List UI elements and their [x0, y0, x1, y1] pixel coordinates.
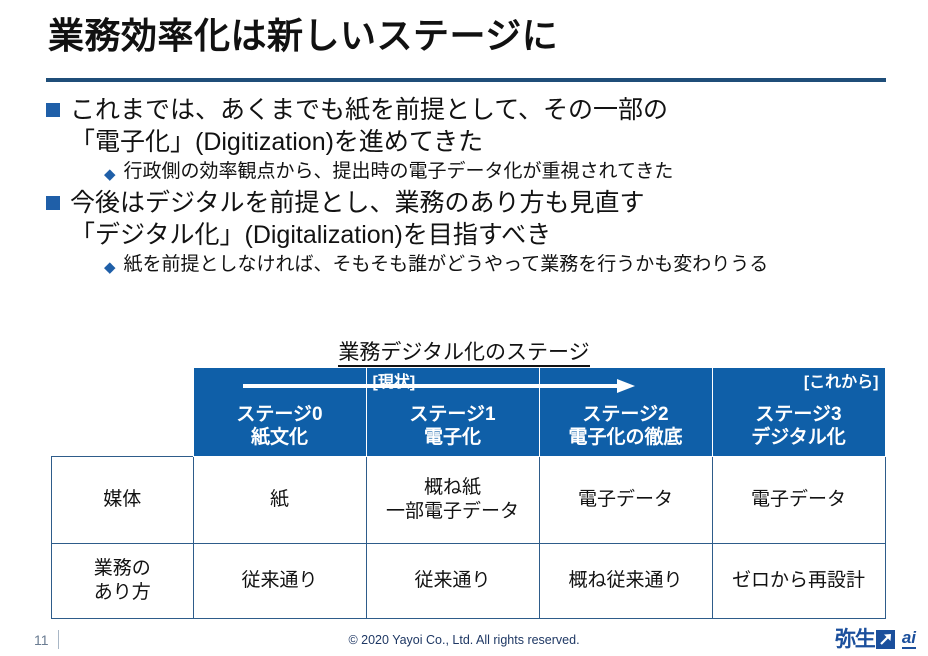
- sub-bullet-2-1-text: 紙を前提としなければ、そもそも誰がどうやって業務を行うかも変わりうる: [124, 253, 769, 276]
- bullet-item-1: これまでは、あくまでも紙を前提として、その一部の 「電子化」(Digitizat…: [46, 94, 906, 158]
- slide-canvas: 業務効率化は新しいステージに これまでは、あくまでも紙を前提として、その一部の …: [0, 0, 928, 656]
- bullet-item-1-text: これまでは、あくまでも紙を前提として、その一部の 「電子化」(Digitizat…: [70, 94, 668, 158]
- stage-table: ステージ0 紙文化 [現状] ステージ1 電子化 ステージ2 電子化の徹底: [51, 367, 886, 619]
- table-header-stage3: [これから] ステージ3 デジタル化: [712, 368, 885, 457]
- cell-media-stage2: 電子データ: [539, 457, 712, 544]
- bullet-item-2: 今後はデジタルを前提とし、業務のあり方も見直す 「デジタル化」(Digitali…: [46, 187, 906, 251]
- header-stage3-line2: デジタル化: [713, 426, 885, 450]
- table-row: 媒体 紙 概ね紙一部電子データ 電子データ 電子データ: [52, 457, 886, 544]
- row-label-media: 媒体: [52, 457, 194, 544]
- bullet-list: これまでは、あくまでも紙を前提として、その一部の 「電子化」(Digitizat…: [46, 94, 906, 280]
- copyright-text: © 2020 Yayoi Co., Ltd. All rights reserv…: [0, 633, 928, 647]
- diamond-bullet-icon: ◆: [104, 260, 116, 275]
- bullet-item-2-text: 今後はデジタルを前提とし、業務のあり方も見直す 「デジタル化」(Digitali…: [70, 187, 645, 251]
- header-stage1-line1: ステージ1: [367, 403, 539, 427]
- sub-bullet-1-1: ◆ 行政側の効率観点から、提出時の電子データ化が重視されてきた: [104, 160, 906, 183]
- table-header-row: ステージ0 紙文化 [現状] ステージ1 電子化 ステージ2 電子化の徹底: [52, 368, 886, 457]
- title-divider: [46, 78, 886, 82]
- table-header-stage1: [現状] ステージ1 電子化: [366, 368, 539, 457]
- cell-media-stage1: 概ね紙一部電子データ: [366, 457, 539, 544]
- header-stage2-line1: ステージ2: [540, 403, 712, 427]
- header-stage3-line1: ステージ3: [713, 403, 885, 427]
- table-caption: 業務デジタル化のステージ: [0, 336, 928, 366]
- cell-workstyle-stage3: ゼロから再設計: [712, 544, 885, 619]
- cell-media-stage0: 紙: [193, 457, 366, 544]
- header-stage0-line1: ステージ0: [194, 403, 366, 427]
- cell-workstyle-stage2: 概ね従来通り: [539, 544, 712, 619]
- cell-workstyle-stage1: 従来通り: [366, 544, 539, 619]
- cell-workstyle-stage0: 従来通り: [193, 544, 366, 619]
- diamond-bullet-icon: ◆: [104, 167, 116, 182]
- bullet-item-1-line2: 「電子化」(Digitization)を進めてきた: [70, 128, 483, 156]
- table-row: 業務のあり方 従来通り 従来通り 概ね従来通り ゼロから再設計: [52, 544, 886, 619]
- stage-table-header: ステージ0 紙文化 [現状] ステージ1 電子化 ステージ2 電子化の徹底: [52, 368, 886, 457]
- bullet-item-2-line2: 「デジタル化」(Digitalization)を目指すべき: [70, 221, 551, 249]
- future-state-tag: [これから]: [804, 373, 879, 393]
- header-stage1-line2: 電子化: [367, 426, 539, 450]
- footer-divider: [0, 622, 928, 623]
- square-bullet-icon: [46, 103, 60, 117]
- row-label-workstyle: 業務のあり方: [52, 544, 194, 619]
- stage-table-body: 媒体 紙 概ね紙一部電子データ 電子データ 電子データ 業務のあり方 従来通り …: [52, 457, 886, 619]
- arrow-square-icon: [876, 630, 895, 649]
- page-title: 業務効率化は新しいステージに: [48, 14, 888, 57]
- table-header-stage2: ステージ2 電子化の徹底: [539, 368, 712, 457]
- logo-wordmark: 弥生: [835, 629, 875, 650]
- table-header-stage0: ステージ0 紙文化: [193, 368, 366, 457]
- bullet-item-1-line1: これまでは、あくまでも紙を前提として、その一部の: [70, 96, 668, 124]
- current-state-tag: [現状]: [373, 373, 416, 393]
- yayoi-logo: 弥生 ai: [835, 625, 916, 653]
- header-stage0-line2: 紙文化: [194, 426, 366, 450]
- title-block: 業務効率化は新しいステージに: [48, 14, 888, 57]
- table-corner-cell: [52, 368, 194, 457]
- header-stage2-line2: 電子化の徹底: [540, 426, 712, 450]
- table-caption-text: 業務デジタル化のステージ: [338, 341, 589, 367]
- square-bullet-icon: [46, 196, 60, 210]
- sub-bullet-2-1: ◆ 紙を前提としなければ、そもそも誰がどうやって業務を行うかも変わりうる: [104, 253, 906, 276]
- logo-ai-mark: ai: [902, 629, 916, 649]
- bullet-item-2-line1: 今後はデジタルを前提とし、業務のあり方も見直す: [70, 189, 645, 217]
- cell-media-stage3: 電子データ: [712, 457, 885, 544]
- sub-bullet-1-1-text: 行政側の効率観点から、提出時の電子データ化が重視されてきた: [124, 160, 674, 183]
